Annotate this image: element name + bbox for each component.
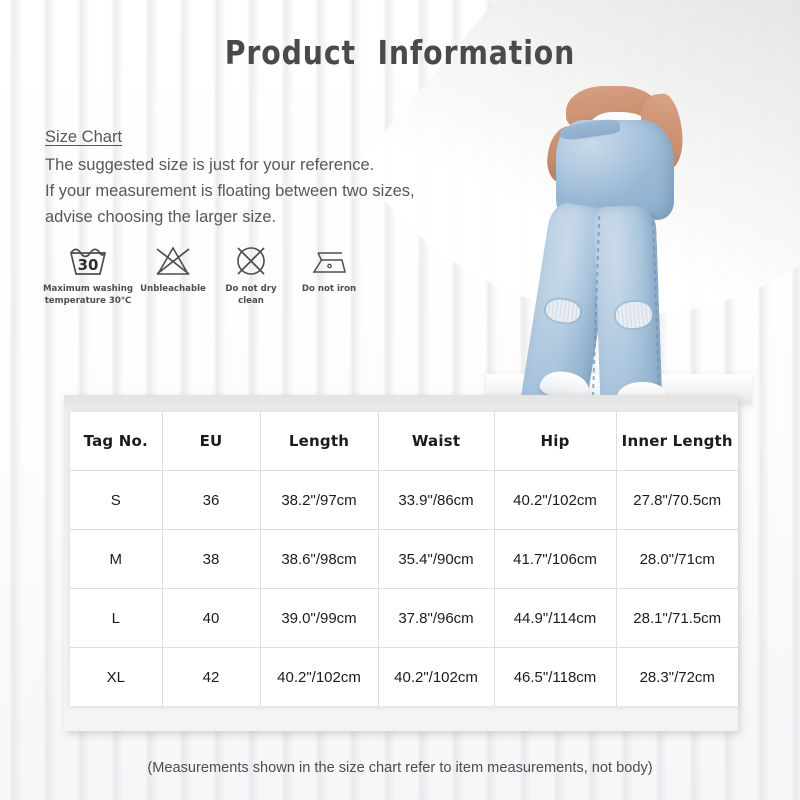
cell-hip: 41.7"/106cm	[494, 530, 616, 589]
iron-crossed-do-not-iron-icon	[309, 243, 349, 279]
intro-line-2: If your measurement is floating between …	[45, 178, 415, 204]
svg-text:30: 30	[78, 256, 99, 274]
cell-tag-no: XL	[70, 648, 162, 707]
cell-inner-length: 28.0"/71cm	[616, 530, 738, 589]
intro-line-3: advise choosing the larger size.	[45, 204, 415, 230]
cell-eu: 42	[162, 648, 260, 707]
size-chart-heading: Size Chart	[45, 128, 415, 147]
cell-length: 39.0"/99cm	[260, 589, 378, 648]
care-item-max-wash-temperature: 30 Maximum washing temperature 30℃	[42, 243, 134, 307]
cell-waist: 40.2"/102cm	[378, 648, 494, 707]
circle-crossed-no-dry-clean-icon	[232, 243, 270, 279]
care-caption-unbleachable: Unbleachable	[140, 284, 206, 296]
cell-tag-no: M	[70, 530, 162, 589]
care-caption-no-dry-clean: Do not dry clean	[212, 284, 290, 307]
table-row: XL 42 40.2"/102cm 40.2"/102cm 46.5"/118c…	[70, 648, 738, 707]
column-header-waist: Waist	[378, 412, 494, 471]
measurements-disclaimer: (Measurements shown in the size chart re…	[0, 760, 800, 776]
page-title: Product Information	[56, 33, 744, 72]
cell-inner-length: 27.8"/70.5cm	[616, 471, 738, 530]
care-caption-do-not-iron: Do not iron	[302, 284, 356, 296]
cell-tag-no: S	[70, 471, 162, 530]
product-information-page: Product Information Size Chart The sugge…	[0, 0, 800, 800]
cell-waist: 37.8"/96cm	[378, 589, 494, 648]
column-header-eu: EU	[162, 412, 260, 471]
size-table-container: Tag No. EU Length Waist Hip Inner Length…	[70, 412, 738, 706]
column-header-length: Length	[260, 412, 378, 471]
care-item-unbleachable: Unbleachable	[134, 243, 212, 296]
wash-tub-30-icon: 30	[67, 243, 109, 279]
cell-eu: 40	[162, 589, 260, 648]
column-header-tag-no: Tag No.	[70, 412, 162, 471]
care-item-do-not-iron: Do not iron	[290, 243, 368, 296]
cell-inner-length: 28.3"/72cm	[616, 648, 738, 707]
cell-waist: 33.9"/86cm	[378, 471, 494, 530]
cell-eu: 38	[162, 530, 260, 589]
column-header-inner-length: Inner Length	[616, 412, 738, 471]
cell-eu: 36	[162, 471, 260, 530]
cell-hip: 40.2"/102cm	[494, 471, 616, 530]
cell-tag-no: L	[70, 589, 162, 648]
size-chart-table: Tag No. EU Length Waist Hip Inner Length…	[70, 412, 738, 706]
cell-waist: 35.4"/90cm	[378, 530, 494, 589]
cell-length: 40.2"/102cm	[260, 648, 378, 707]
intro-line-1: The suggested size is just for your refe…	[45, 152, 415, 178]
table-row: L 40 39.0"/99cm 37.8"/96cm 44.9"/114cm 2…	[70, 589, 738, 648]
triangle-crossed-unbleachable-icon	[154, 243, 192, 279]
size-chart-intro: Size Chart The suggested size is just fo…	[45, 128, 415, 230]
model-wearing-jeans	[520, 86, 730, 406]
cell-hip: 44.9"/114cm	[494, 589, 616, 648]
care-caption-max-wash-temperature: Maximum washing temperature 30℃	[43, 284, 133, 307]
cell-length: 38.2"/97cm	[260, 471, 378, 530]
table-header-row: Tag No. EU Length Waist Hip Inner Length	[70, 412, 738, 471]
cell-hip: 46.5"/118cm	[494, 648, 616, 707]
column-header-hip: Hip	[494, 412, 616, 471]
cell-inner-length: 28.1"/71.5cm	[616, 589, 738, 648]
table-row: M 38 38.6"/98cm 35.4"/90cm 41.7"/106cm 2…	[70, 530, 738, 589]
table-row: S 36 38.2"/97cm 33.9"/86cm 40.2"/102cm 2…	[70, 471, 738, 530]
care-instructions-row: 30 Maximum washing temperature 30℃ Unble…	[42, 243, 368, 307]
care-item-no-dry-clean: Do not dry clean	[212, 243, 290, 307]
cell-length: 38.6"/98cm	[260, 530, 378, 589]
